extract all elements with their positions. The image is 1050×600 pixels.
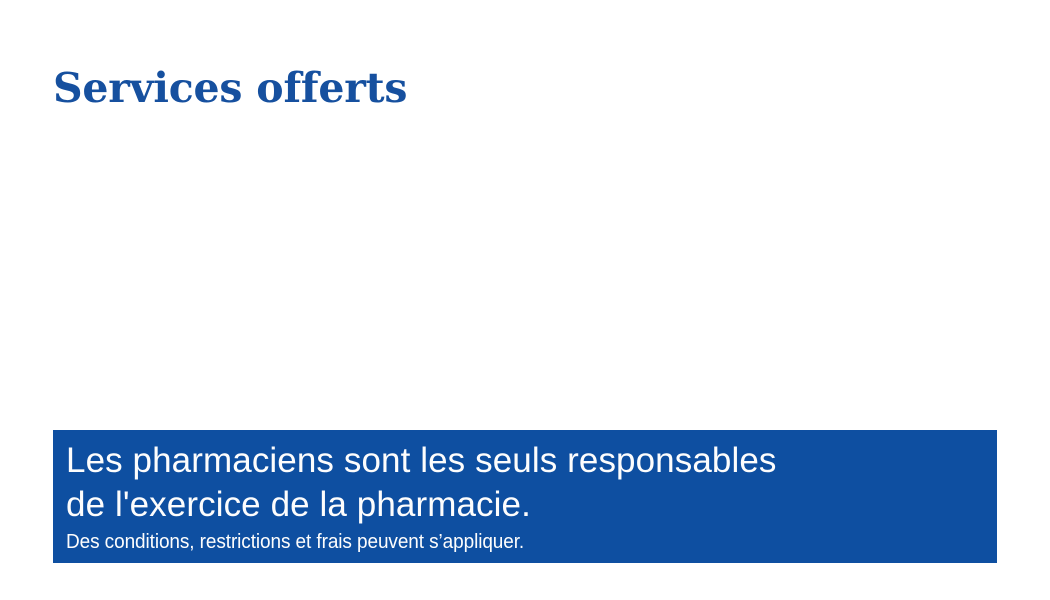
callout-line-1: Les pharmaciens sont les seuls responsab… — [66, 439, 997, 483]
callout-subtitle: Des conditions, restrictions et frais pe… — [66, 529, 950, 555]
page-title: Services offerts — [53, 62, 407, 114]
slide-content-area — [53, 130, 997, 425]
callout-line-2: de l'exercice de la pharmacie. — [66, 483, 997, 527]
callout-banner: Les pharmaciens sont les seuls responsab… — [53, 430, 997, 563]
slide-canvas: Services offerts Les pharmaciens sont le… — [0, 0, 1050, 600]
